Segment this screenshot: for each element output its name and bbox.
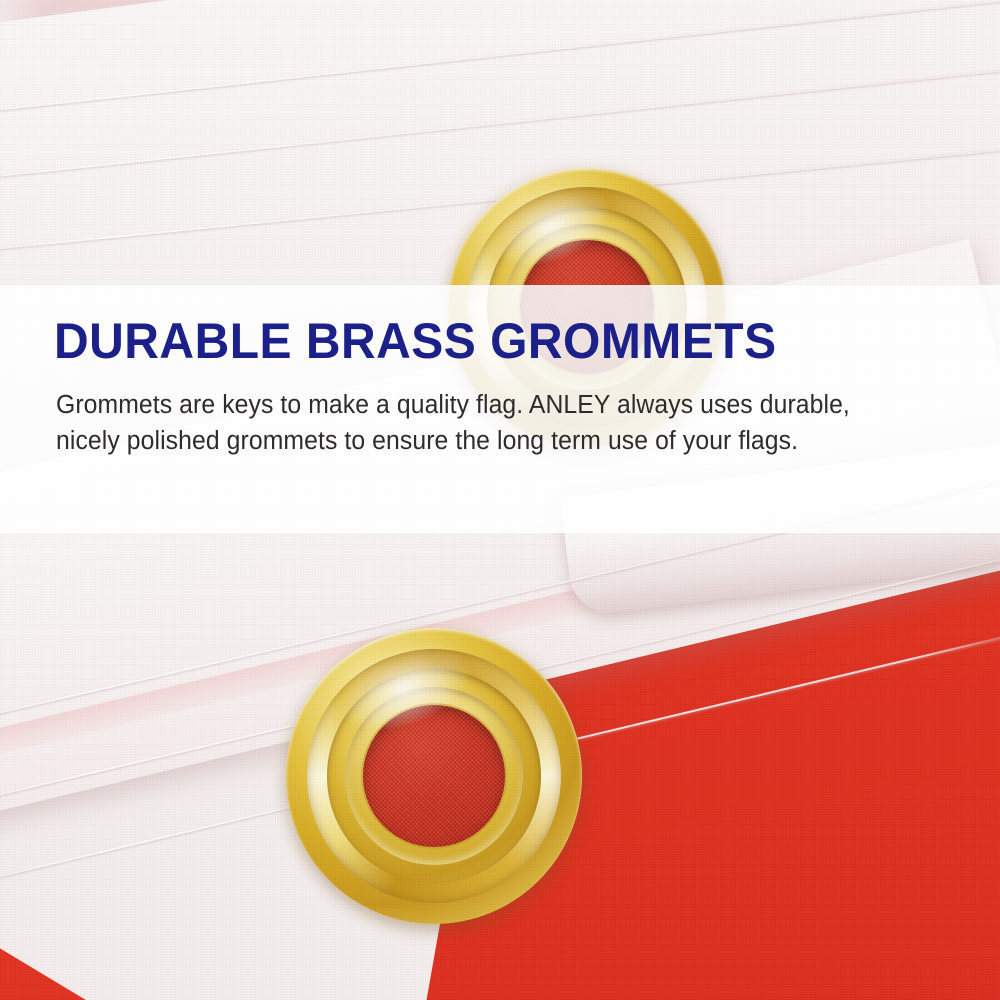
body-copy: Grommets are keys to make a quality flag…	[56, 387, 869, 459]
brass-grommet-bottom	[286, 628, 582, 924]
overlay-content: DURABLE BRASS GROMMETS Grommets are keys…	[54, 285, 934, 533]
grommet-hole	[363, 705, 505, 847]
text-overlay-panel: DURABLE BRASS GROMMETS Grommets are keys…	[0, 285, 1000, 533]
headline: DURABLE BRASS GROMMETS	[54, 316, 777, 366]
product-infographic: DURABLE BRASS GROMMETS Grommets are keys…	[0, 0, 1000, 1000]
